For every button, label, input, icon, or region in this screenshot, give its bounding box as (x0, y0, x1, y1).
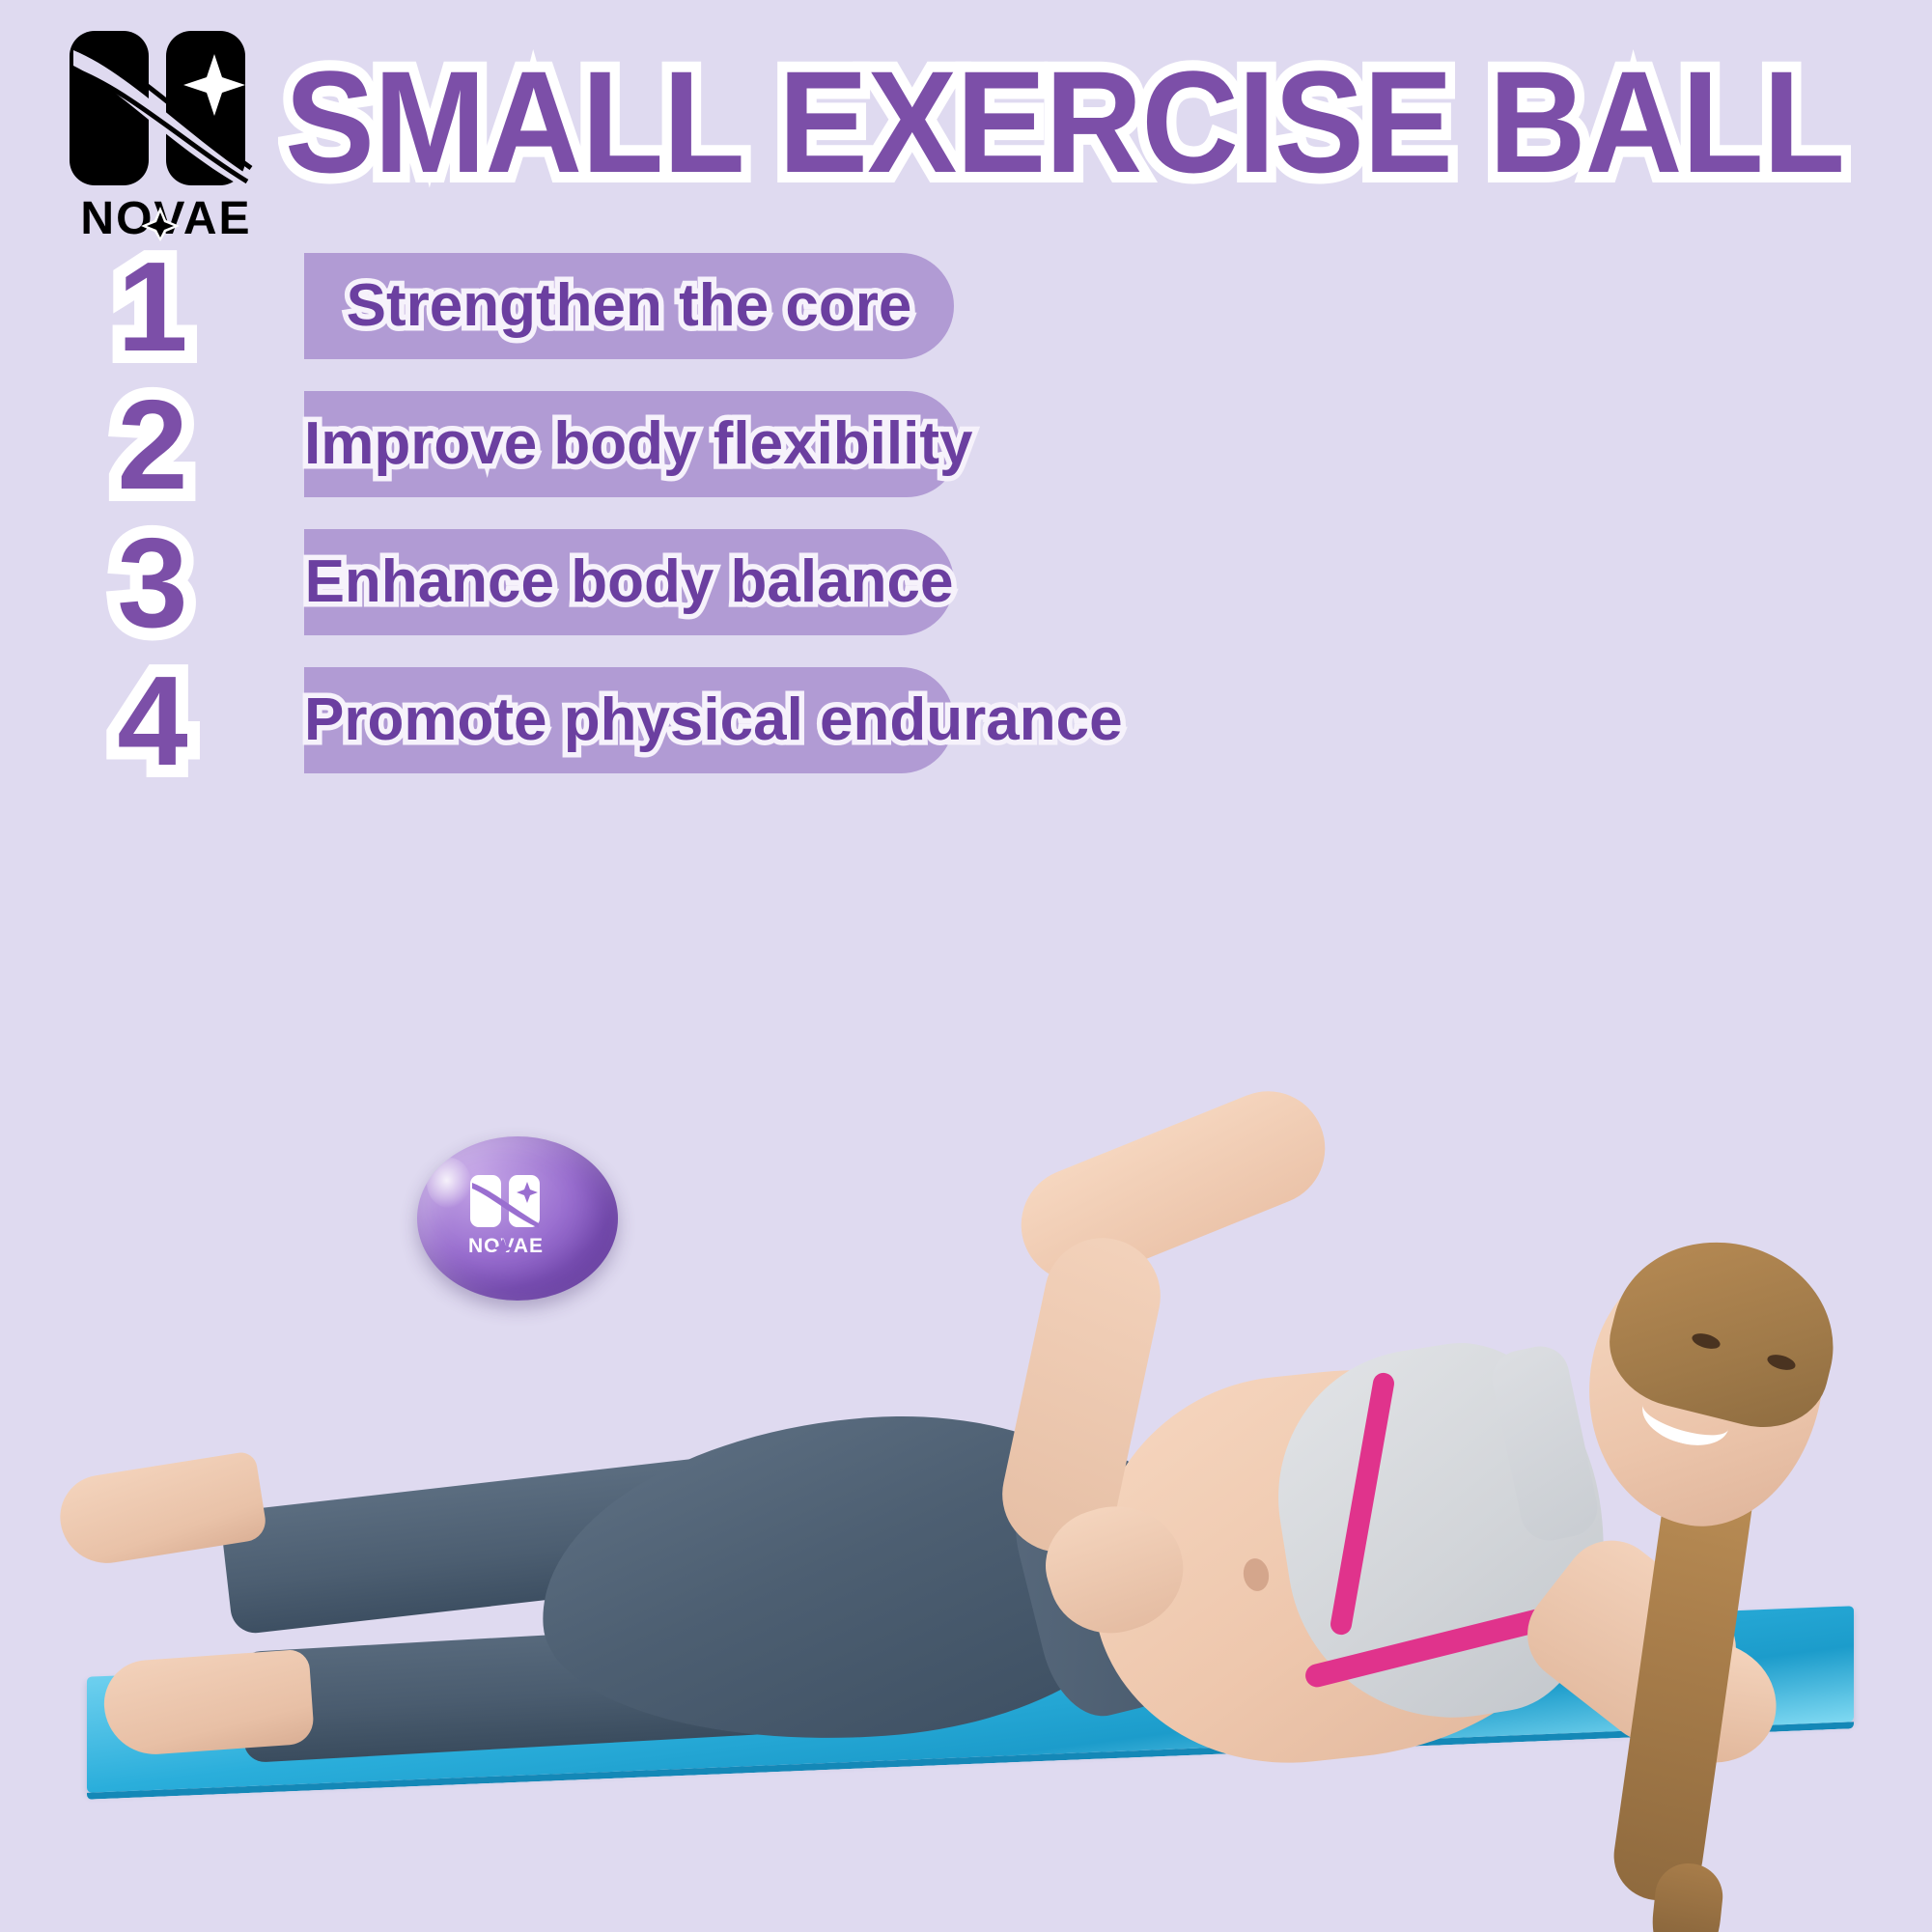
product-infographic-poster: NOVAE SMALL EXERCISE BALL 1 Strengthen t… (0, 0, 1932, 1932)
benefit-label: Strengthen the core (304, 253, 954, 359)
novae-logo-icon (469, 1173, 545, 1229)
benefit-label: Enhance body balance (304, 529, 954, 635)
list-item: 4 Promote physical endurance (0, 667, 1274, 773)
benefit-number: 2 (95, 370, 210, 519)
list-item: 1 Strengthen the core (0, 253, 1274, 359)
page-title: SMALL EXERCISE BALL (285, 44, 1844, 199)
benefit-pill: Promote physical endurance (304, 667, 954, 773)
benefit-pill: Improve body flexibility (304, 391, 960, 497)
benefit-pill: Enhance body balance (304, 529, 954, 635)
poster-header: NOVAE SMALL EXERCISE BALL (0, 0, 1932, 261)
model-figure (0, 966, 1932, 1932)
product-lifestyle-photo (0, 966, 1932, 1932)
exercise-ball: NOVAE (417, 1136, 618, 1301)
ground-foot (101, 1649, 315, 1758)
list-item: 2 Improve body flexibility (0, 391, 1274, 497)
benefit-label: Promote physical endurance (304, 667, 954, 773)
ball-novae-logo: NOVAE (460, 1173, 552, 1266)
benefit-number: 4 (95, 646, 210, 796)
list-item: 3 Enhance body balance (0, 529, 1274, 635)
benefit-pill: Strengthen the core (304, 253, 954, 359)
benefit-label: Improve body flexibility (304, 391, 960, 497)
novae-brand-logo: NOVAE (60, 27, 272, 241)
benefit-number: 3 (95, 508, 210, 658)
benefit-number: 1 (95, 232, 210, 381)
benefits-list: 1 Strengthen the core 2 Improve body fle… (0, 253, 1274, 794)
novae-wordmark: NOVAE (460, 1233, 552, 1256)
novae-logo-icon (68, 27, 261, 189)
